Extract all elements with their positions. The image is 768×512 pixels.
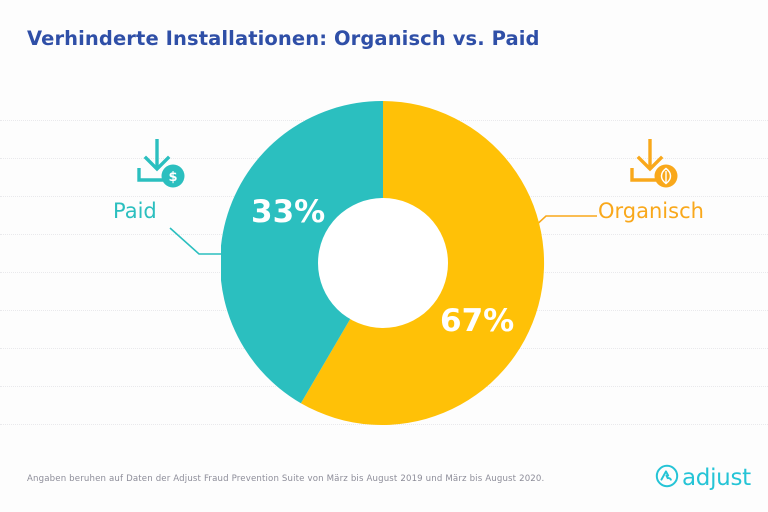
- category-paid-label: Paid: [113, 199, 157, 223]
- organic-percentage-label: 67%: [440, 303, 514, 339]
- svg-text:$: $: [168, 170, 177, 185]
- download-dollar-icon: $: [133, 137, 193, 193]
- download-leaf-icon: [626, 137, 686, 193]
- adjust-wordmark: adjust: [682, 467, 751, 490]
- category-organisch-label: Organisch: [598, 199, 704, 223]
- donut-chart: 33% 67%: [221, 100, 545, 426]
- source-note: Angaben beruhen auf Daten der Adjust Fra…: [27, 474, 544, 484]
- infographic-canvas: Verhinderte Installationen: Organisch vs…: [0, 0, 768, 512]
- page-title: Verhinderte Installationen: Organisch vs…: [27, 27, 540, 50]
- adjust-logo: adjust: [655, 464, 751, 492]
- adjust-circle-mark-icon: [655, 464, 679, 492]
- donut-hole: [318, 198, 448, 328]
- paid-percentage-label: 33%: [251, 194, 325, 230]
